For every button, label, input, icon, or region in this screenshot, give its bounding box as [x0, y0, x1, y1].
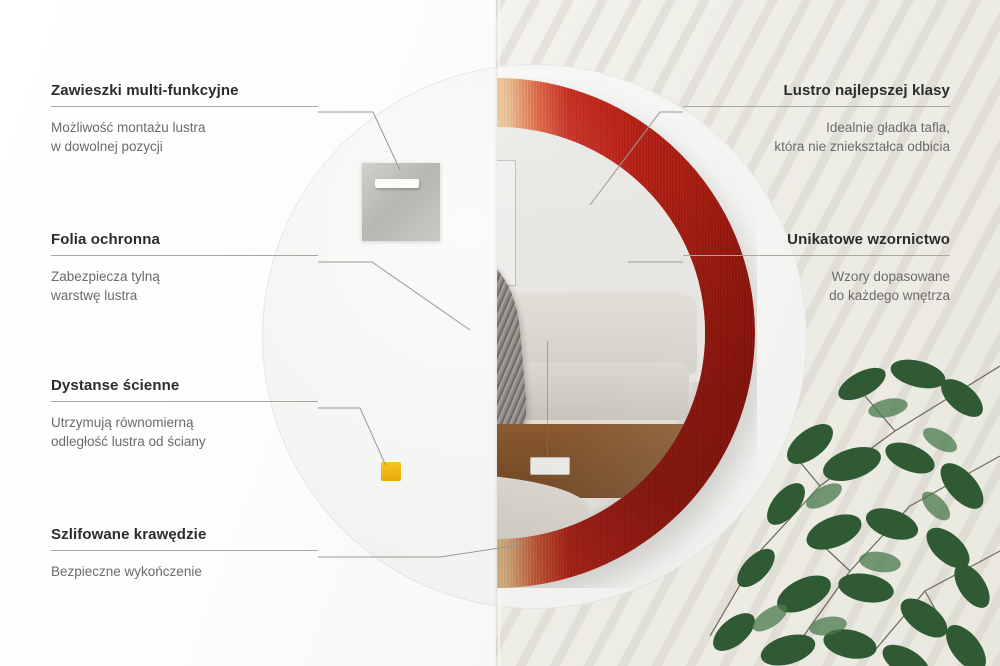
infographic-canvas: Zawieszki multi-funkcyjne Możliwość mont…: [0, 0, 1000, 666]
callout-top-class-mirror-rule: [683, 106, 950, 107]
callout-backing-foil-desc: Zabezpiecza tylną warstwę lustra: [51, 267, 318, 305]
callout-polished-edges-desc: Bezpieczne wykończenie: [51, 562, 318, 581]
mirror-gloss-overlay: [497, 127, 705, 539]
callout-unique-design-desc: Wzory dopasowane do każdego wnętrza: [683, 267, 950, 305]
callout-unique-design-rule: [683, 255, 950, 256]
callout-hangers-rule: [51, 106, 318, 107]
callout-hangers-title: Zawieszki multi-funkcyjne: [51, 82, 318, 99]
callout-hangers-desc: Możliwość montażu lustra w dowolnej pozy…: [51, 118, 318, 156]
callout-wall-spacers: Dystanse ścienne Utrzymują równomierną o…: [51, 377, 318, 451]
callout-backing-foil: Folia ochronna Zabezpiecza tylną warstwę…: [51, 231, 318, 305]
callout-polished-edges-rule: [51, 550, 318, 551]
callout-unique-design-title: Unikatowe wzornictwo: [683, 231, 950, 248]
wall-spacer-marker: [381, 462, 401, 481]
callout-top-class-mirror-title: Lustro najlepszej klasy: [683, 82, 950, 99]
callout-polished-edges-title: Szlifowane krawędzie: [51, 526, 318, 543]
callout-unique-design: Unikatowe wzornictwo Wzory dopasowane do…: [683, 231, 950, 305]
callout-backing-foil-rule: [51, 255, 318, 256]
callout-backing-foil-title: Folia ochronna: [51, 231, 318, 248]
callout-polished-edges: Szlifowane krawędzie Bezpieczne wykończe…: [51, 526, 318, 581]
hanger-slot: [375, 179, 419, 188]
callout-top-class-mirror: Lustro najlepszej klasy Idealnie gładka …: [683, 82, 950, 156]
callout-top-class-mirror-desc: Idealnie gładka tafla, która nie znieksz…: [683, 118, 950, 156]
decorative-plant: [700, 336, 1000, 666]
plant-leaves: [706, 355, 996, 666]
callout-wall-spacers-rule: [51, 401, 318, 402]
callout-hangers: Zawieszki multi-funkcyjne Możliwość mont…: [51, 82, 318, 156]
callout-wall-spacers-title: Dystanse ścienne: [51, 377, 318, 394]
mirror-glass: [497, 127, 705, 539]
hanger-plate-marker: [362, 163, 440, 241]
callout-wall-spacers-desc: Utrzymują równomierną odległość lustra o…: [51, 413, 318, 451]
